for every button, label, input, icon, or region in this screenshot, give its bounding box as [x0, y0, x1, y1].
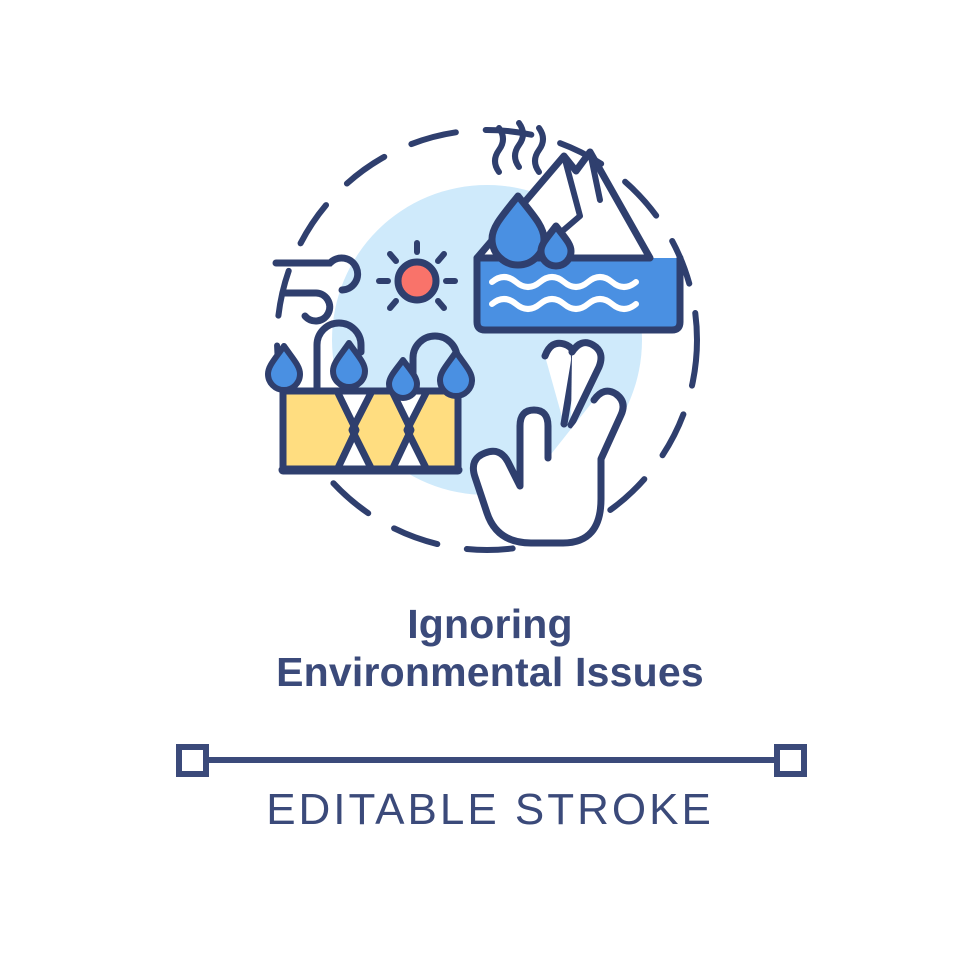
icon-card: Ignoring Environmental Issues EDITABLE S…: [0, 0, 980, 980]
editable-stroke-label: EDITABLE STROKE: [0, 785, 980, 835]
stroke-handle-right[interactable]: [777, 747, 804, 774]
stroke-handle-left[interactable]: [179, 747, 206, 774]
